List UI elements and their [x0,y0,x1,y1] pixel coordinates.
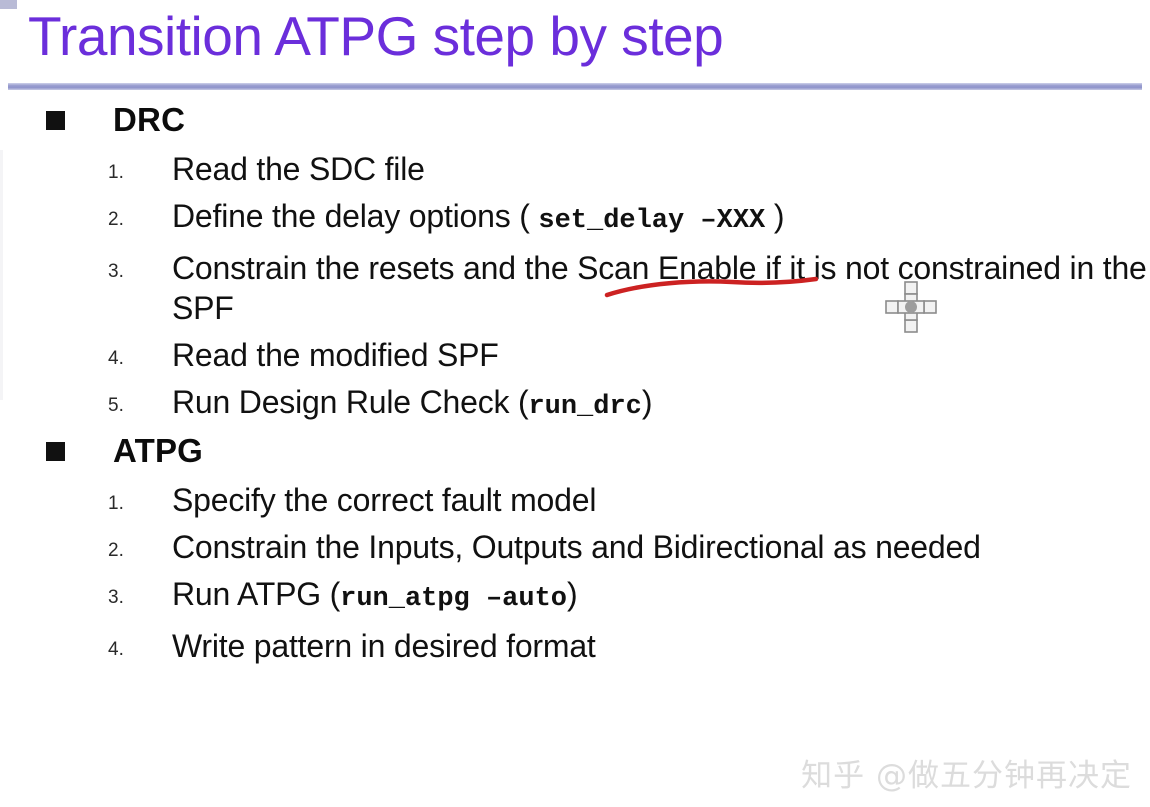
section-drc: DRC1.Read the SDC file2.Define the delay… [0,96,1150,427]
step-text-run: ) [567,576,577,612]
step-number: 2. [108,209,142,231]
step-number: 3. [108,587,142,609]
step-text: Constrain the resets and the Scan Enable… [172,248,1150,328]
title-divider [8,83,1142,90]
step-text-run: ) [765,198,784,234]
step-text-run: ) [642,384,652,420]
command-token: run_atpg –auto [340,584,567,614]
step-number: 1. [108,493,142,515]
square-bullet-icon [46,442,65,461]
slide-canvas: Transition ATPG step by step DRC1.Read t… [0,0,1150,807]
step-list: 1.Read the SDC file2.Define the delay op… [0,149,1150,427]
command-token: run_drc [528,392,641,422]
step-text: Run ATPG (run_atpg –auto) [172,574,577,619]
step-text: Specify the correct fault model [172,480,596,520]
step-text-run: Write pattern in desired format [172,628,596,664]
step-number: 5. [108,395,142,417]
step-text: Run Design Rule Check (run_drc) [172,382,652,427]
step-text-run: Read the modified SPF [172,337,499,373]
step-number: 2. [108,540,142,562]
step-number: 4. [108,348,142,370]
site-watermark: 知乎 @做五分钟再决定 [801,750,1132,795]
command-token: –XXX [684,206,765,236]
step-text-run: Run Design Rule Check ( [172,384,528,420]
step-item: 1.Specify the correct fault model [0,480,1150,520]
section-label: DRC [113,103,185,136]
step-number: 3. [108,261,142,283]
step-item: 2.Define the delay options ( set_delay –… [0,196,1150,241]
step-text-run: Constrain the Inputs, Outputs and Bidire… [172,529,981,565]
step-text-run: Constrain the resets and the Scan Enable… [172,250,1147,326]
step-item: 5.Run Design Rule Check (run_drc) [0,382,1150,427]
step-text: Write pattern in desired format [172,626,596,666]
step-number: 4. [108,639,142,661]
step-text-run: Define the delay options ( [172,198,538,234]
step-text: Read the SDC file [172,149,425,189]
scan-corner-mark [0,0,17,9]
step-item: 4.Write pattern in desired format [0,626,1150,666]
step-item: 1.Read the SDC file [0,149,1150,189]
step-text-run: Specify the correct fault model [172,482,596,518]
step-item: 3.Run ATPG (run_atpg –auto) [0,574,1150,619]
step-list: 1.Specify the correct fault model2.Const… [0,480,1150,666]
step-text-run: Read the SDC file [172,151,425,187]
section-heading: DRC [46,96,1150,142]
step-item: 4.Read the modified SPF [0,335,1150,375]
square-bullet-icon [46,111,65,130]
command-token: set_delay [538,206,684,236]
step-number: 1. [108,162,142,184]
page-title: Transition ATPG step by step [28,4,723,68]
step-text: Define the delay options ( set_delay –XX… [172,196,784,241]
step-text: Constrain the Inputs, Outputs and Bidire… [172,527,981,567]
slide-body: DRC1.Read the SDC file2.Define the delay… [0,96,1150,666]
step-text: Read the modified SPF [172,335,499,375]
section-heading: ATPG [46,427,1150,473]
step-text-run: Run ATPG ( [172,576,340,612]
section-label: ATPG [113,434,203,467]
section-atpg: ATPG1.Specify the correct fault model2.C… [0,427,1150,666]
step-item: 2.Constrain the Inputs, Outputs and Bidi… [0,527,1150,567]
step-item: 3.Constrain the resets and the Scan Enab… [0,248,1150,328]
